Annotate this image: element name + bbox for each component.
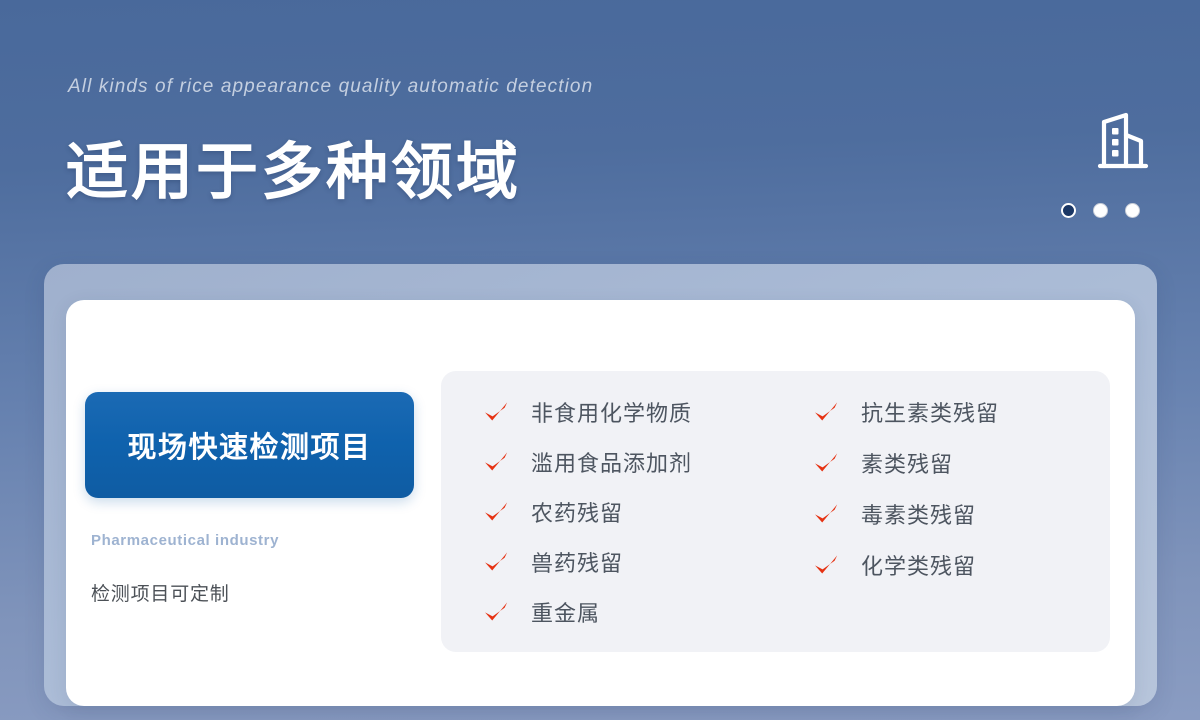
checklist-column-right: 抗生素类残留 素类残留 毒素类残留 化学类残留 bbox=[793, 395, 1093, 652]
check-icon bbox=[813, 552, 839, 578]
checklist-panel: 非食用化学物质 滥用食品添加剂 农药残留 兽药残留 bbox=[441, 371, 1110, 652]
check-icon bbox=[483, 549, 509, 575]
cta-button-label: 现场快速检测项目 bbox=[127, 424, 371, 466]
page-title: 适用于多种领域 bbox=[66, 121, 521, 211]
list-item-label: 素类残留 bbox=[861, 447, 953, 479]
carousel-dot-2[interactable] bbox=[1093, 203, 1108, 218]
list-item: 化学类残留 bbox=[813, 548, 1093, 582]
list-item-label: 化学类残留 bbox=[861, 549, 976, 581]
check-icon bbox=[483, 449, 509, 475]
check-icon bbox=[813, 399, 839, 425]
list-item-label: 非食用化学物质 bbox=[531, 396, 692, 428]
building-icon bbox=[1091, 111, 1153, 173]
page-header: All kinds of rice appearance quality aut… bbox=[0, 0, 1200, 264]
check-icon bbox=[483, 499, 509, 525]
list-item-label: 滥用食品添加剂 bbox=[531, 446, 692, 478]
list-item-label: 抗生素类残留 bbox=[861, 396, 999, 428]
list-item: 重金属 bbox=[483, 595, 793, 629]
check-icon bbox=[483, 599, 509, 625]
left-panel: 现场快速检测项目 Pharmaceutical industry 检测项目可定制 bbox=[85, 392, 435, 606]
check-icon bbox=[813, 450, 839, 476]
list-item: 兽药残留 bbox=[483, 545, 793, 579]
list-item: 素类残留 bbox=[813, 446, 1093, 480]
list-item-label: 兽药残留 bbox=[531, 546, 623, 578]
carousel-dot-3[interactable] bbox=[1125, 203, 1140, 218]
panel-eyebrow: Pharmaceutical industry bbox=[91, 532, 435, 549]
list-item-label: 毒素类残留 bbox=[861, 498, 976, 530]
list-item: 滥用食品添加剂 bbox=[483, 445, 793, 479]
content-card: 现场快速检测项目 Pharmaceutical industry 检测项目可定制… bbox=[66, 300, 1135, 706]
list-item: 农药残留 bbox=[483, 495, 793, 529]
panel-note: 检测项目可定制 bbox=[91, 579, 435, 606]
list-item: 毒素类残留 bbox=[813, 497, 1093, 531]
onsite-rapid-detection-button[interactable]: 现场快速检测项目 bbox=[85, 392, 414, 498]
list-item-label: 农药残留 bbox=[531, 496, 623, 528]
check-icon bbox=[483, 399, 509, 425]
list-item: 非食用化学物质 bbox=[483, 395, 793, 429]
checklist-column-left: 非食用化学物质 滥用食品添加剂 农药残留 兽药残留 bbox=[441, 395, 793, 652]
carousel-dot-1[interactable] bbox=[1061, 203, 1076, 218]
list-item-label: 重金属 bbox=[531, 596, 600, 628]
carousel-dots[interactable] bbox=[1061, 203, 1140, 218]
check-icon bbox=[813, 501, 839, 527]
list-item: 抗生素类残留 bbox=[813, 395, 1093, 429]
header-subtitle: All kinds of rice appearance quality aut… bbox=[68, 76, 593, 98]
